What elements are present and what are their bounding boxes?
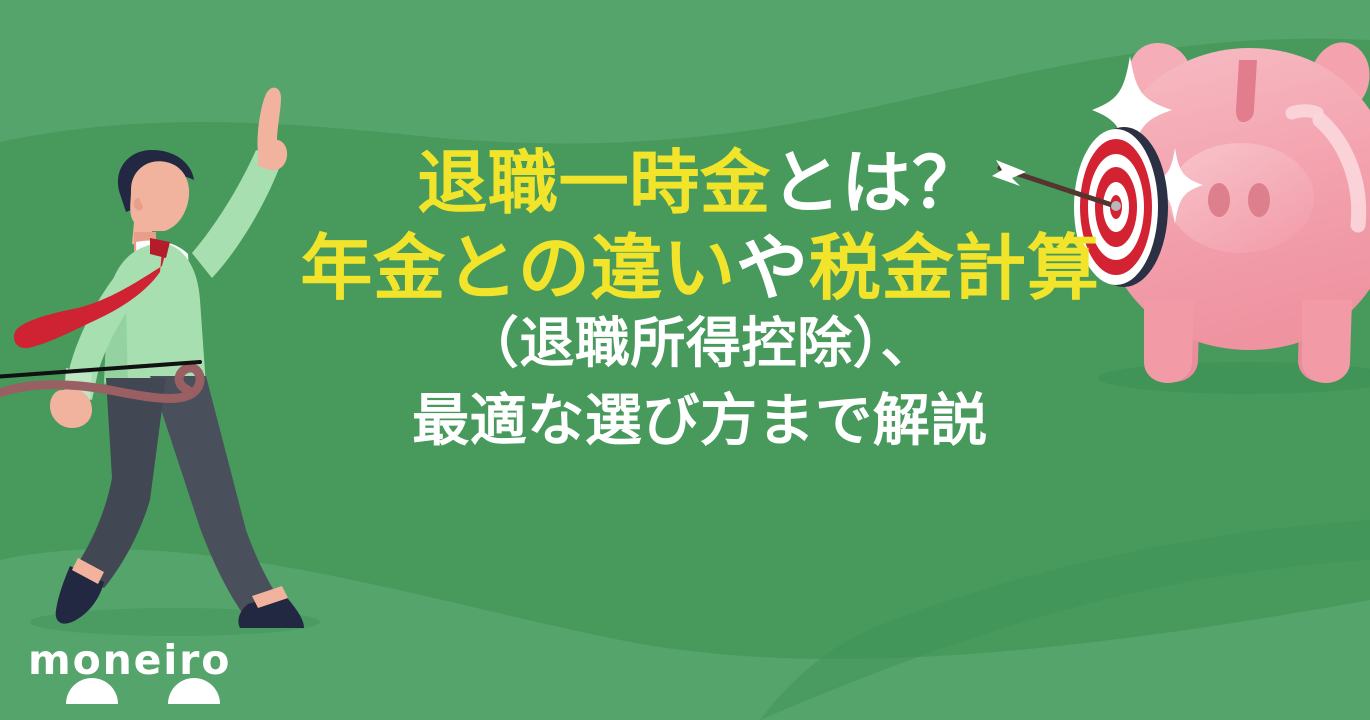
piggy-nostril-right — [1248, 183, 1270, 217]
arrow-fletching — [992, 160, 1026, 186]
man-bow-hand — [50, 390, 92, 428]
man-pointing-hand — [257, 88, 287, 171]
moneiro-logo[interactable]: moneiro — [28, 640, 218, 702]
piggy-leg-front-right — [1302, 300, 1352, 383]
hero-banner: 退職一時金とは？ 年金との違いや税金計算 （退職所得控除）、 最適な選び方まで解… — [0, 0, 1370, 720]
piggy-snout — [1168, 143, 1314, 253]
arrow-tip — [1111, 201, 1121, 211]
piggy-nostril-left — [1208, 183, 1230, 217]
businessman-illustration — [0, 88, 320, 636]
piggy-bank-illustration — [992, 42, 1370, 394]
logo-wordmark: moneiro — [28, 640, 231, 681]
dartboard-target — [1074, 127, 1168, 287]
illustration-layer — [0, 0, 1370, 720]
piggy-leg-front-left — [1144, 300, 1194, 383]
man-pants-back-leg — [150, 376, 280, 618]
piggy-highlight-short — [1292, 111, 1317, 113]
